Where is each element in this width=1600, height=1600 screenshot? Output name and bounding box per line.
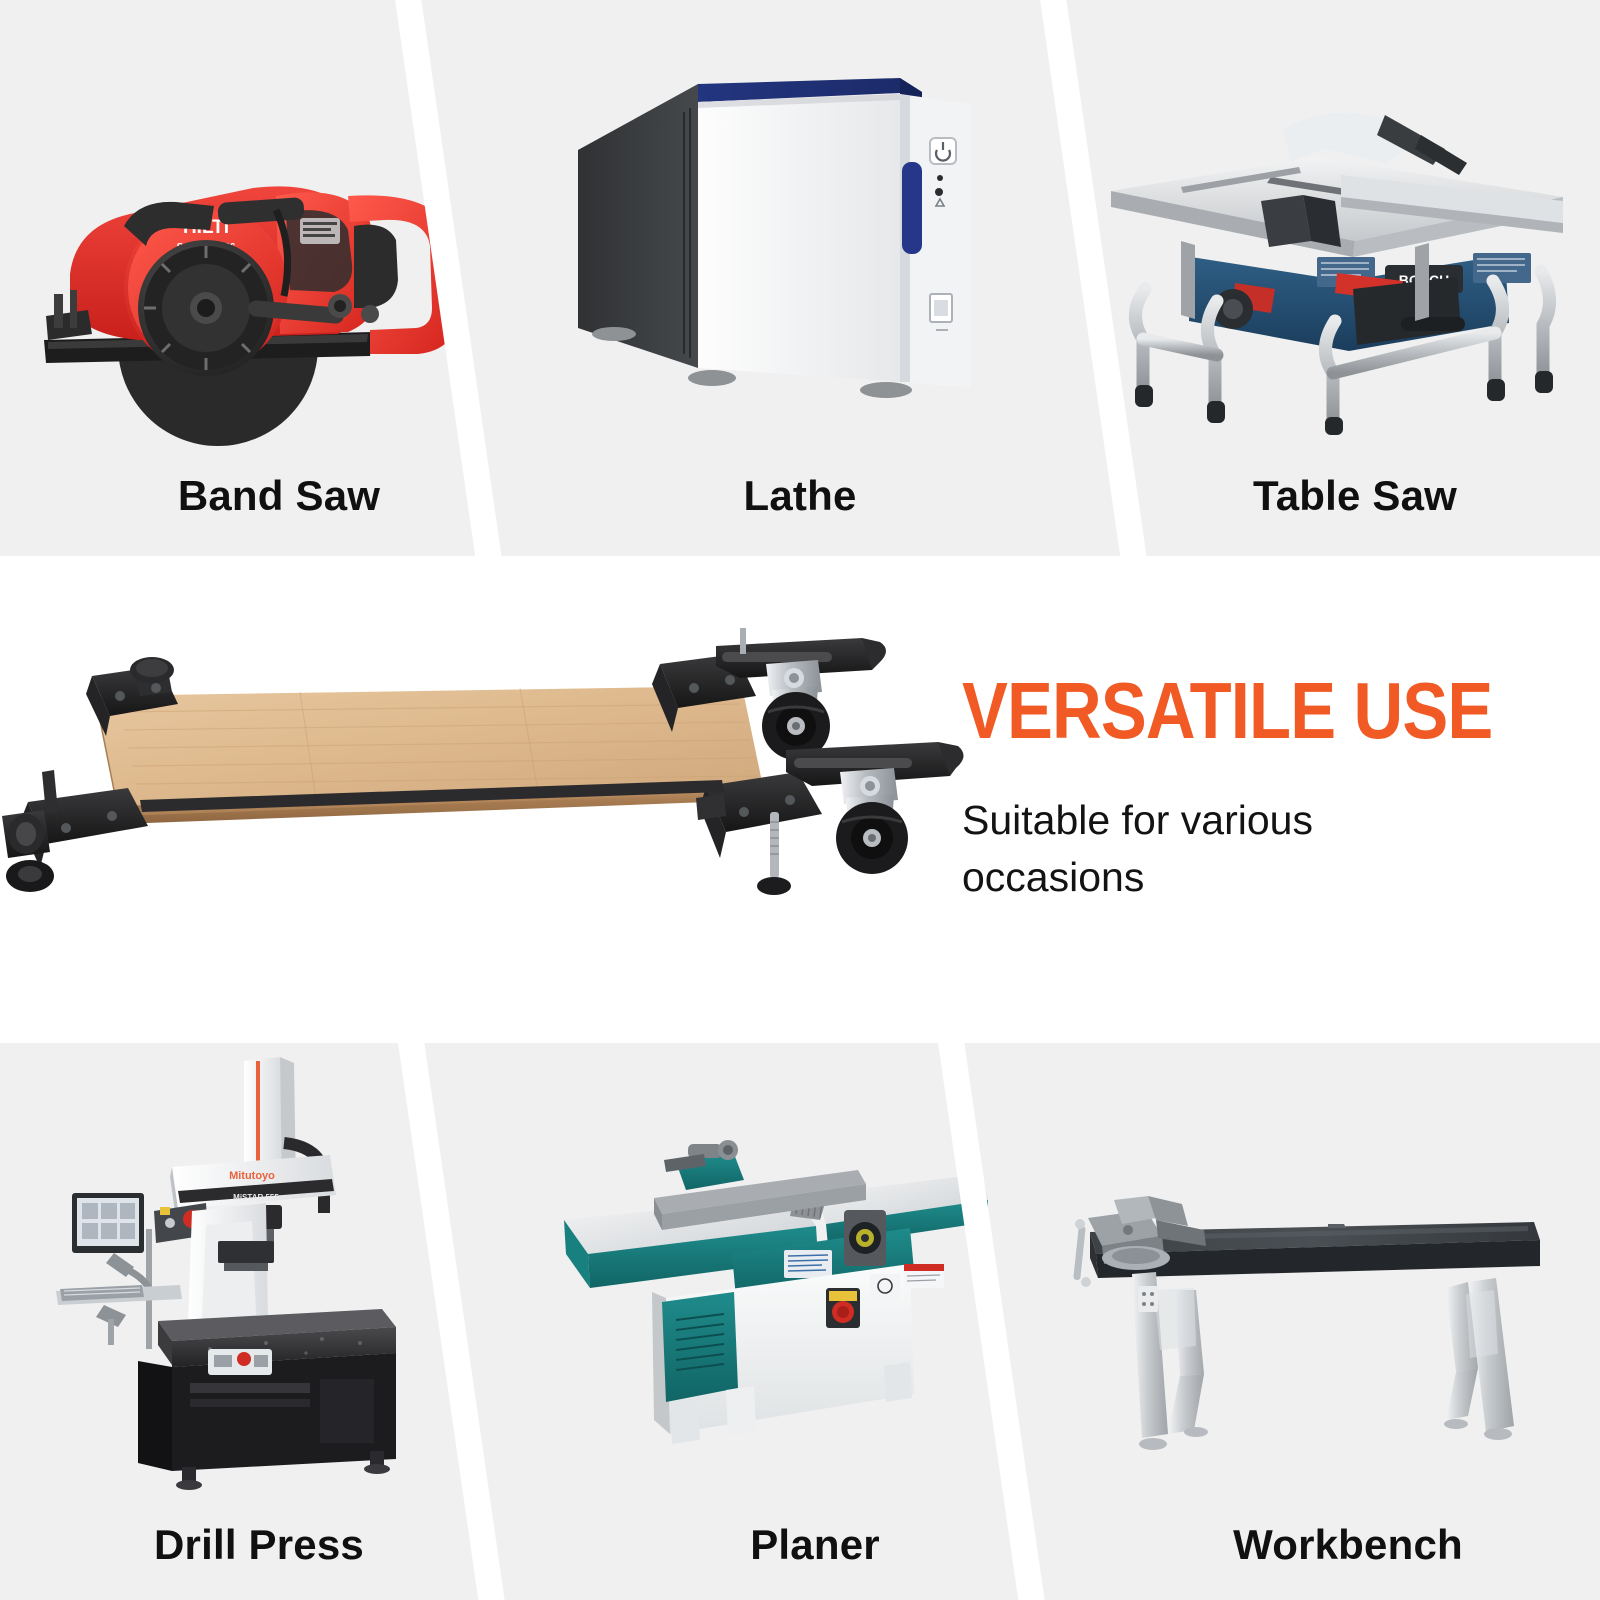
feature-subtitle: Suitable for various occasions bbox=[962, 792, 1432, 905]
corner-bracket-front-left bbox=[2, 770, 148, 892]
cmm-brand-text: Mitutoyo bbox=[229, 1170, 275, 1182]
product-infographic-poster: HILTI SC 60W-A36 bbox=[0, 0, 1600, 1600]
workbench-leg-right bbox=[1444, 1278, 1514, 1440]
label-lathe: Lathe bbox=[743, 472, 856, 520]
band-saw-image: HILTI SC 60W-A36 bbox=[18, 118, 468, 438]
workbench-image bbox=[1028, 1178, 1548, 1478]
top-product-row: HILTI SC 60W-A36 bbox=[0, 0, 1600, 556]
table-saw-image: BOSCH bbox=[1085, 105, 1565, 435]
planer-image bbox=[558, 1088, 988, 1468]
label-planer: Planer bbox=[750, 1521, 880, 1569]
drill-press-image: Mitutoyo MiSTAR 555 bbox=[30, 1043, 430, 1493]
workbench-leg-left bbox=[1132, 1272, 1208, 1450]
feature-headline: VERSATILE USE bbox=[962, 672, 1478, 750]
label-band-saw: Band Saw bbox=[178, 472, 380, 520]
feature-row: VERSATILE USE Suitable for various occas… bbox=[0, 556, 1600, 1043]
label-drill-press: Drill Press bbox=[154, 1521, 364, 1569]
label-table-saw: Table Saw bbox=[1253, 472, 1457, 520]
feature-text-block: VERSATILE USE Suitable for various occas… bbox=[962, 672, 1562, 906]
label-workbench: Workbench bbox=[1233, 1521, 1463, 1569]
lathe-image bbox=[570, 58, 990, 418]
bottom-product-row: Mitutoyo MiSTAR 555 bbox=[0, 1043, 1600, 1600]
cmm-model-text: MiSTAR 555 bbox=[233, 1193, 279, 1202]
mobile-base-image bbox=[0, 600, 990, 930]
